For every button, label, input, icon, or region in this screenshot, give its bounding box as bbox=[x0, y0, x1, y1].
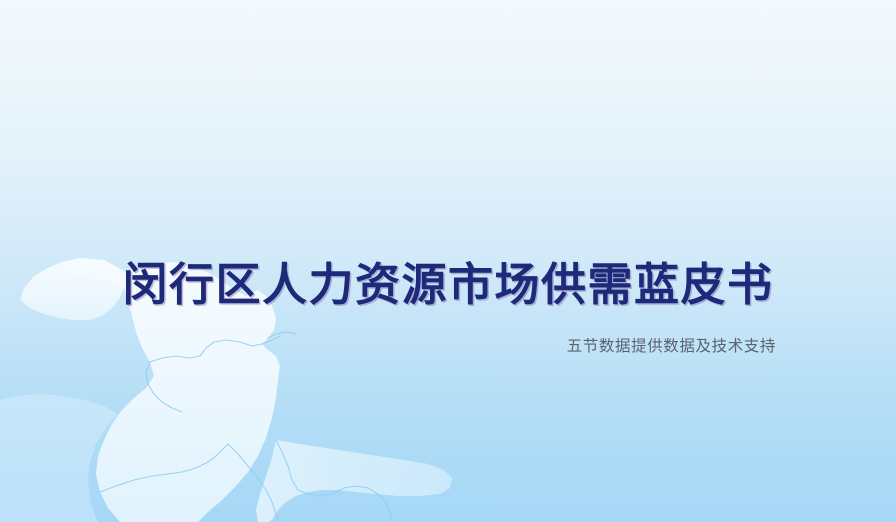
title-text-block: 闵行区人力资源市场供需蓝皮书 五节数据提供数据及技术支持 bbox=[0, 0, 896, 522]
page-subtitle: 五节数据提供数据及技术支持 bbox=[300, 336, 776, 358]
title-slide: 闵行区人力资源市场供需蓝皮书 五节数据提供数据及技术支持 bbox=[0, 0, 896, 522]
page-title: 闵行区人力资源市场供需蓝皮书 bbox=[120, 258, 776, 312]
